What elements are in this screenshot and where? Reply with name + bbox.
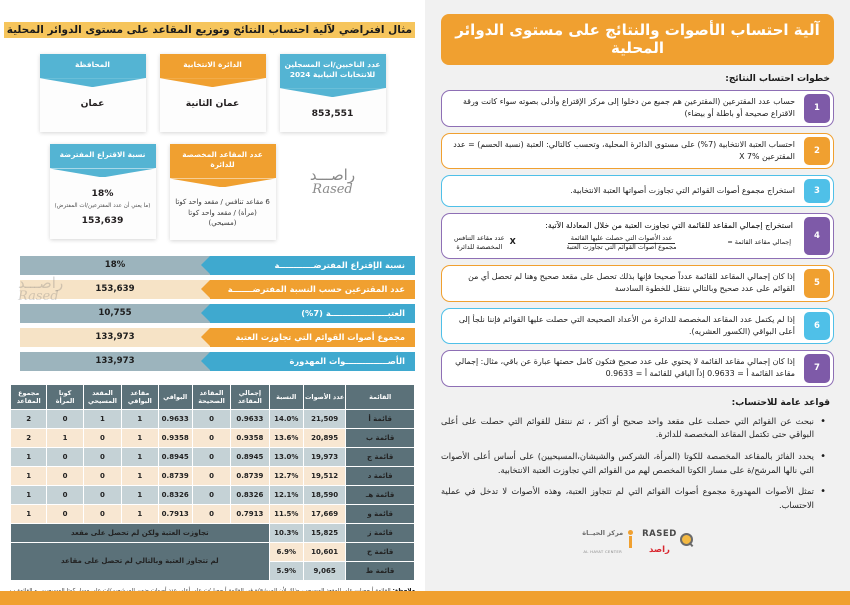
table-row: قائمة د 19,512 12.7% 0.8739 0 0.8739 1 0… [11, 466, 415, 485]
seats-formula: إجمالي مقاعد القائمة = عدد الأصوات التي … [446, 232, 797, 255]
cell-list: قائمة و [346, 504, 415, 523]
cell-women: 0 [47, 466, 83, 485]
cell-christian: 1 [83, 409, 121, 428]
summary-row-turnout: نسبة الإقتراع المفترضــــــــــــة 18% [10, 256, 415, 275]
step-4-body: استخراج إجمالي المقاعد للقائمة التي تجاو… [442, 214, 801, 258]
step-3: 3 استخراج مجموع أصوات القوائم التي تجاوز… [441, 175, 834, 207]
cell-list: قائمة هـ [346, 485, 415, 504]
cell-list: قائمة ج [346, 447, 415, 466]
example-panel: مثال افتراضي لآلية احتساب النتائج وتوزيع… [0, 0, 425, 605]
card-label: عدد المقاعد المخصصة للدائرة [170, 144, 276, 178]
cell-remainder: 0.9633 [158, 409, 192, 428]
cell-percent: 5.9% [269, 561, 303, 580]
col-total: مجموع المقاعد [11, 384, 47, 409]
step-number-badge: 1 [804, 94, 830, 123]
cell-status-note: لم تتجاوز العتبة وبالتالي لم تحصل على مق… [11, 542, 270, 580]
cell-total-seats: 0.8739 [231, 466, 269, 485]
cell-votes: 15,825 [303, 523, 345, 542]
step-text: إذا كان إجمالي المقاعد للقائمة عدداً صحي… [442, 266, 801, 301]
example-title-wrap: مثال افتراضي لآلية احتساب النتائج وتوزيع… [10, 8, 415, 38]
card-value: 853,551 [280, 107, 386, 120]
table-row: قائمة ج 19,973 13.0% 0.8945 0 0.8945 1 0… [11, 447, 415, 466]
cell-christian: 0 [83, 485, 121, 504]
cell-votes: 10,601 [303, 542, 345, 561]
al-hayat-logo-text: مركز الحيــاة AL HAYAT CENTER [582, 521, 623, 558]
step-number-badge: 4 [804, 217, 830, 255]
rased-watermark-brand: راصـــد Rased [290, 144, 376, 197]
card-electoral-district: الدائرة الانتخابية عمان الثانية [160, 54, 266, 132]
step-text: إذا كان إجمالي مقاعد القائمة لا يحتوي عل… [442, 351, 801, 386]
page-title: آلية احتساب الأصوات والنتائج على مستوى ا… [441, 14, 834, 65]
cell-remainder-seats: 1 [122, 485, 158, 504]
card-registered-voters: عدد الناخبين/ات المسجلين للانتخابات الني… [280, 54, 386, 132]
card-value: عمان الثانية [160, 97, 266, 110]
cell-total-seats: 0.8945 [231, 447, 269, 466]
rules-list: نبحث عن القوائم التي حصلت على مقعد واحد … [441, 415, 834, 513]
cell-remainder: 0.8739 [158, 466, 192, 485]
rules-heading: قواعد عامة للاحتساب: [441, 398, 830, 408]
results-table-body: قائمة أ 21,509 14.0% 0.9633 0 0.9633 1 1… [11, 409, 415, 580]
col-percent: النسبة [269, 384, 303, 409]
step-7: 7 إذا كان إجمالي مقاعد القائمة لا يحتوي … [441, 350, 834, 387]
table-row: قائمة أ 21,509 14.0% 0.9633 0 0.9633 1 1… [11, 409, 415, 428]
col-remainder-seats: مقاعد البواقي [122, 384, 158, 409]
steps-heading: خطوات احتساب النتائج: [441, 74, 830, 84]
cell-total-seats: 0.9358 [231, 428, 269, 447]
results-table: القائمة عدد الأصوات النسبة إجمالي المقاع… [10, 384, 415, 581]
cell-sum: 2 [11, 409, 47, 428]
magnifier-icon [680, 533, 693, 546]
step-text: حساب عدد المقترعين (المقترعين هم جميع من… [442, 91, 801, 126]
cell-votes: 17,669 [303, 504, 345, 523]
col-valid-seats: المقاعد الصحيحة [192, 384, 230, 409]
cell-total-seats: 0.9633 [231, 409, 269, 428]
step-number-badge: 3 [804, 179, 830, 203]
secondary-info-cards: راصـــد Rased عدد المقاعد المخصصة للدائر… [10, 144, 415, 239]
col-list: القائمة [346, 384, 415, 409]
cell-percent: 12.1% [269, 485, 303, 504]
cell-sum: 1 [11, 466, 47, 485]
step-number-badge: 6 [804, 312, 830, 341]
summary-value: 18% [20, 256, 210, 275]
cell-percent: 12.7% [269, 466, 303, 485]
cell-remainder: 0.7913 [158, 504, 192, 523]
summary-label-text: الأصـــــــــــــــوات المهدورة [289, 356, 405, 366]
multiply-icon: X [510, 237, 516, 248]
step-text: استخراج مجموع أصوات القوائم التي تجاوزت … [442, 176, 801, 206]
cell-list: قائمة د [346, 466, 415, 485]
cell-women: 0 [47, 409, 83, 428]
cell-remainder-seats: 1 [122, 504, 158, 523]
cell-votes: 19,512 [303, 466, 345, 485]
cell-christian: 0 [83, 447, 121, 466]
cell-sum: 1 [11, 504, 47, 523]
cell-sum: 1 [11, 447, 47, 466]
al-hayat-logo: مركز الحيــاة AL HAYAT CENTER [582, 521, 635, 558]
summary-label: مجموع أصوات القوائم التي تجاوزت العتبة [210, 328, 415, 347]
cell-remainder: 0.9358 [158, 428, 192, 447]
cell-remainder-seats: 1 [122, 428, 158, 447]
cell-votes: 20,895 [303, 428, 345, 447]
rased-logo-en: RASED [642, 529, 677, 539]
cell-percent: 13.0% [269, 447, 303, 466]
summary-row-threshold: العتبــــــــــــــــــــة (7%) 10,755 [10, 304, 415, 323]
formula-left-side: إجمالي مقاعد القائمة = [727, 238, 791, 247]
card-turnout-rate: نسبة الاقتراع المفترضة 18% (ما يعني أن ع… [50, 144, 156, 239]
card-subtext: (ما يعني أن عدد المقترعين/ات المفترض) [50, 203, 156, 211]
step-text: إذا لم يكتمل عدد المقاعد المخصصة للدائرة… [442, 309, 801, 344]
table-row: قائمة هـ 18,590 12.1% 0.8326 0 0.8326 1 … [11, 485, 415, 504]
cell-percent: 13.6% [269, 428, 303, 447]
cell-sum: 2 [11, 428, 47, 447]
cell-women: 1 [47, 428, 83, 447]
al-hayat-ar: مركز الحيــاة [582, 529, 623, 537]
summary-label-text: مجموع أصوات القوائم التي تجاوزت العتبة [235, 332, 405, 342]
card-label: عدد الناخبين/ات المسجلين للانتخابات الني… [280, 54, 386, 88]
summary-value: 153,639 [20, 280, 210, 299]
cell-list: قائمة ح [346, 542, 415, 561]
methodology-panel: آلية احتساب الأصوات والنتائج على مستوى ا… [425, 0, 850, 605]
cell-percent: 14.0% [269, 409, 303, 428]
results-table-head: القائمة عدد الأصوات النسبة إجمالي المقاع… [11, 384, 415, 409]
step-1: 1 حساب عدد المقترعين (المقترعين هم جميع … [441, 90, 834, 127]
cell-votes: 18,590 [303, 485, 345, 504]
cell-remainder-seats: 1 [122, 466, 158, 485]
cell-valid-seats: 0 [192, 485, 230, 504]
cell-list: قائمة ب [346, 428, 415, 447]
example-title: مثال افتراضي لآلية احتساب النتائج وتوزيع… [4, 22, 415, 38]
formula-rhs-line2: المخصصة للدائرة [456, 243, 502, 251]
rule-item: يحدد الفائز بالمقاعد المخصصة للكوتا (الم… [441, 450, 826, 477]
step-text: استخراج إجمالي المقاعد للقائمة التي تجاو… [446, 218, 797, 232]
step-number-badge: 7 [804, 354, 830, 383]
summary-label-text: نسبة الإقتراع المفترضــــــــــــة [275, 260, 405, 270]
card-value: 6 مقاعد تنافس / مقعد واحد كوتا (مرأة) / … [170, 197, 276, 227]
summary-value: 133,973 [20, 328, 210, 347]
cell-sum: 1 [11, 485, 47, 504]
card-value-secondary: 153,639 [50, 214, 156, 227]
cell-women: 0 [47, 447, 83, 466]
cell-remainder-seats: 1 [122, 409, 158, 428]
cell-total-seats: 0.8326 [231, 485, 269, 504]
step-6: 6 إذا لم يكتمل عدد المقاعد المخصصة للدائ… [441, 308, 834, 345]
cell-women: 0 [47, 485, 83, 504]
summary-label: عدد المقترعين حسب النسبة المفترضـــــــة [210, 280, 415, 299]
cell-list: قائمة ز [346, 523, 415, 542]
top-info-cards: عدد الناخبين/ات المسجلين للانتخابات الني… [10, 54, 415, 132]
col-total-seats: إجمالي المقاعد [231, 384, 269, 409]
step-4: 4 استخراج إجمالي المقاعد للقائمة التي تج… [441, 213, 834, 259]
table-header-row: القائمة عدد الأصوات النسبة إجمالي المقاع… [11, 384, 415, 409]
summary-row-wasted-votes: الأصـــــــــــــــوات المهدورة 133,973 [10, 352, 415, 371]
summary-label: الأصـــــــــــــــوات المهدورة [210, 352, 415, 371]
cell-christian: 0 [83, 428, 121, 447]
rule-item: نبحث عن القوائم التي حصلت على مقعد واحد … [441, 415, 826, 442]
cell-remainder: 0.8326 [158, 485, 192, 504]
card-label: المحافظة [40, 54, 146, 78]
cell-remainder: 0.8945 [158, 447, 192, 466]
cell-valid-seats: 0 [192, 504, 230, 523]
col-women-quota: كوتا المرأة [47, 384, 83, 409]
summary-row-qualified-votes: مجموع أصوات القوائم التي تجاوزت العتبة 1… [10, 328, 415, 347]
summary-label: نسبة الإقتراع المفترضــــــــــــة [210, 256, 415, 275]
cell-percent: 6.9% [269, 542, 303, 561]
table-row: قائمة ز 15,825 10.3% تجاوزت العتبة ولكن … [11, 523, 415, 542]
summary-label-text: عدد المقترعين حسب النسبة المفترضـــــــة [228, 284, 405, 294]
summary-value: 133,973 [20, 352, 210, 371]
cell-valid-seats: 0 [192, 447, 230, 466]
summary-value: 10,755 [20, 304, 210, 323]
summary-label-text: العتبــــــــــــــــــــة (7%) [301, 308, 405, 318]
steps-list: 1 حساب عدد المقترعين (المقترعين هم جميع … [441, 90, 834, 387]
col-remainder: البواقي [158, 384, 192, 409]
formula-denominator: مجموع أصوات القوائم التي تجاوزت العتبة [564, 242, 680, 251]
card-governorate: المحافظة عمان [40, 54, 146, 132]
card-label: نسبة الاقتراع المفترضة [50, 144, 156, 168]
step-2: 2 احتساب العتبة الانتخابية (7%) على مستو… [441, 133, 834, 170]
card-label: الدائرة الانتخابية [160, 54, 266, 78]
cell-votes: 21,509 [303, 409, 345, 428]
al-hayat-en: AL HAYAT CENTER [583, 549, 622, 554]
rased-logo-ar: راصد [649, 545, 670, 555]
cell-valid-seats: 0 [192, 428, 230, 447]
rased-logo-text: RASED راصد [642, 523, 677, 555]
cell-percent: 11.5% [269, 504, 303, 523]
formula-rhs-line1: عدد مقاعد التنافس [454, 234, 505, 242]
cell-percent: 10.3% [269, 523, 303, 542]
cell-women: 0 [47, 504, 83, 523]
step-text: احتساب العتبة الانتخابية (7%) على مستوى … [442, 134, 801, 169]
table-row: قائمة ح 10,601 6.9% لم تتجاوز العتبة وبا… [11, 542, 415, 561]
card-allocated-seats: عدد المقاعد المخصصة للدائرة 6 مقاعد تناف… [170, 144, 276, 239]
col-votes: عدد الأصوات [303, 384, 345, 409]
brand-english: Rased [290, 182, 376, 197]
organization-logos: RASED راصد مركز الحيــاة AL HAYAT CENTER [441, 521, 834, 558]
summary-label: العتبــــــــــــــــــــة (7%) [210, 304, 415, 323]
rule-item: تمثل الأصوات المهدورة مجموع أصوات القوائ… [441, 485, 826, 512]
cell-remainder-seats: 1 [122, 447, 158, 466]
cell-christian: 0 [83, 466, 121, 485]
cell-list: قائمة ط [346, 561, 415, 580]
rased-logo: RASED راصد [642, 523, 693, 555]
table-row: قائمة ب 20,895 13.6% 0.9358 0 0.9358 1 0… [11, 428, 415, 447]
cell-list: قائمة أ [346, 409, 415, 428]
formula-fraction: عدد الأصوات التي حصلت عليها القائمة مجمو… [521, 234, 723, 251]
cell-christian: 0 [83, 504, 121, 523]
cell-votes: 9,065 [303, 561, 345, 580]
step-number-badge: 2 [804, 137, 830, 166]
infographic-page: آلية احتساب الأصوات والنتائج على مستوى ا… [0, 0, 850, 605]
cell-valid-seats: 0 [192, 466, 230, 485]
footer-bar-left [0, 591, 425, 605]
person-figure-icon [626, 530, 635, 548]
footer-bar-right [425, 591, 850, 605]
summary-bars: راصـــد Rased نسبة الإقتراع المفترضـــــ… [10, 256, 415, 371]
cell-status-note: تجاوزت العتبة ولكن لم تحصل على مقعد [11, 523, 270, 542]
formula-right-side: عدد مقاعد التنافس المخصصة للدائرة [454, 234, 505, 251]
card-value: 18% [50, 187, 156, 200]
cell-total-seats: 0.7913 [231, 504, 269, 523]
summary-row-voters: عدد المقترعين حسب النسبة المفترضـــــــة… [10, 280, 415, 299]
table-row: قائمة و 17,669 11.5% 0.7913 0 0.7913 1 0… [11, 504, 415, 523]
card-value: عمان [40, 97, 146, 110]
cell-valid-seats: 0 [192, 409, 230, 428]
col-christian-seat: المقعد المسيحي [83, 384, 121, 409]
step-5: 5 إذا كان إجمالي المقاعد للقائمة عدداً ص… [441, 265, 834, 302]
cell-votes: 19,973 [303, 447, 345, 466]
step-number-badge: 5 [804, 269, 830, 298]
